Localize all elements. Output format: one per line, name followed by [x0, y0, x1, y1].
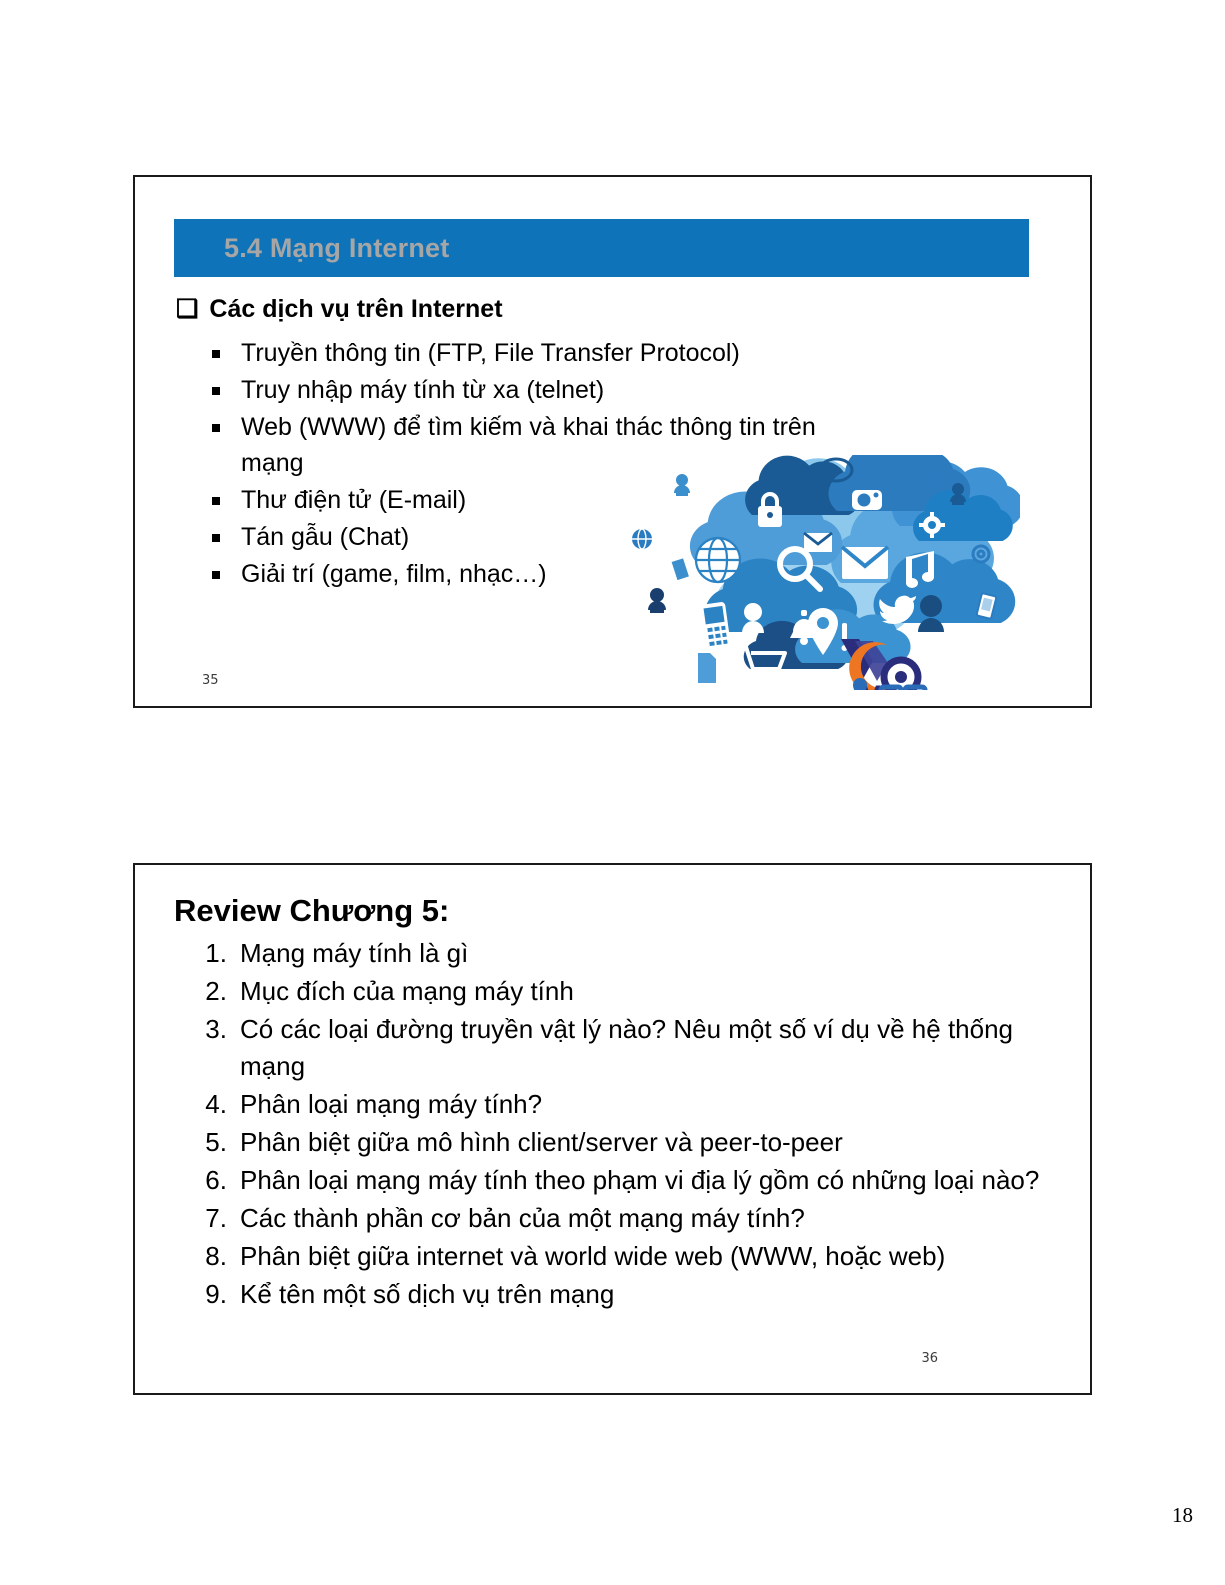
smartphone-icon [668, 554, 693, 588]
slide-number: 35 [202, 673, 219, 688]
svg-text:@: @ [916, 461, 944, 494]
slide-title-banner: 5.4 Mạng Internet [174, 219, 1029, 277]
list-item: Mục đích của mạng máy tính [193, 973, 1048, 1010]
globe-small-icon [632, 529, 652, 549]
slide-review-chuong-5: Review Chương 5: Mạng máy tính là gì Mục… [133, 863, 1092, 1395]
user-icon [674, 474, 690, 496]
hollow-square-bullet-icon: ❑ [176, 297, 198, 322]
list-item: Kể tên một số dịch vụ trên mạng [193, 1276, 1048, 1313]
list-item: Mạng máy tính là gì [193, 935, 1048, 972]
document-icon [698, 653, 716, 683]
list-item: Có các loại đường truyền vật lý nào? Nêu… [193, 1011, 1048, 1085]
list-item: Phân biệt giữa internet và world wide we… [193, 1238, 1048, 1275]
slide-title-text: 5.4 Mạng Internet [224, 233, 449, 264]
camera-icon [852, 490, 882, 510]
page-number: 18 [1172, 1503, 1193, 1528]
slide-number: 36 [921, 1351, 938, 1366]
services-heading-label: Các dịch vụ trên Internet [209, 295, 502, 324]
cloud-computing-illustration: @ [630, 455, 1020, 690]
list-item: Phân loại mạng máy tính? [193, 1086, 1048, 1123]
envelope-icon-small [804, 533, 832, 552]
services-heading: ❑ Các dịch vụ trên Internet [176, 295, 503, 324]
list-item: Truy nhập máy tính từ xa (telnet) [207, 372, 847, 408]
list-item: Phân loại mạng máy tính theo phạm vi địa… [193, 1162, 1048, 1199]
at-sign-icon: @ [916, 461, 944, 494]
review-questions-list: Mạng máy tính là gì Mục đích của mạng má… [193, 935, 1048, 1314]
globe-icon [696, 538, 740, 582]
slide-5-4-mang-internet: 5.4 Mạng Internet ❑ Các dịch vụ trên Int… [133, 175, 1092, 708]
list-item: Truyền thông tin (FTP, File Transfer Pro… [207, 335, 847, 371]
envelope-icon [842, 547, 888, 579]
list-item: Các thành phần cơ bản của một mạng máy t… [193, 1200, 1048, 1237]
user-icon [648, 588, 666, 613]
review-title: Review Chương 5: [174, 893, 449, 929]
list-item: Phân biệt giữa mô hình client/server và … [193, 1124, 1048, 1161]
